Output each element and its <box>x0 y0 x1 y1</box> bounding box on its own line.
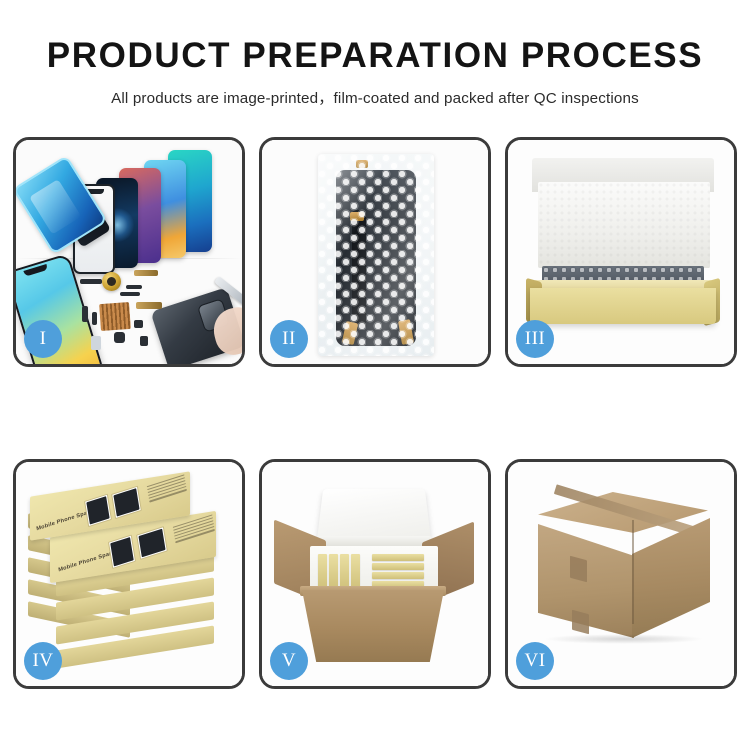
speaker-part-icon <box>114 332 125 343</box>
box-spec-lines <box>147 474 187 504</box>
carton-body-icon <box>302 590 444 662</box>
carton-tab-icon <box>570 556 587 583</box>
step-badge-1: I <box>24 320 62 358</box>
step-badge-5: V <box>270 642 308 680</box>
step-badge-2: II <box>270 320 308 358</box>
step-panel-3[interactable]: III <box>505 137 737 367</box>
small-part-bar-icon <box>134 320 143 328</box>
flex-cable-icon <box>134 270 158 276</box>
small-part-bar-icon <box>92 312 97 325</box>
page-header: PRODUCT PREPARATION PROCESS All products… <box>0 0 750 108</box>
box-screen-thumbnail <box>108 535 136 569</box>
plastic-sheen-icon <box>318 154 434 356</box>
small-part-bar-icon <box>126 285 142 289</box>
box-spec-lines <box>173 514 215 544</box>
bubble-wrap-bag-icon <box>318 154 434 356</box>
small-part-bar-icon <box>80 279 102 284</box>
step-badge-3: III <box>516 320 554 358</box>
step-panel-4[interactable]: Mobile Phone Spare Parts Mobile Phone Sp… <box>13 459 245 689</box>
small-part-bar-icon <box>120 292 140 296</box>
page-title: PRODUCT PREPARATION PROCESS <box>0 38 750 75</box>
flex-cable-icon <box>136 302 162 309</box>
process-step-grid: I II III <box>0 137 750 689</box>
step-panel-2[interactable]: II <box>259 137 491 367</box>
step-badge-4: IV <box>24 642 62 680</box>
sim-tray-part-icon <box>91 336 101 350</box>
step-panel-6[interactable]: VI <box>505 459 737 689</box>
white-foam-sheet-icon <box>538 182 710 268</box>
carton-shadow <box>544 634 704 644</box>
step-panel-5[interactable]: V <box>259 459 491 689</box>
box-screen-thumbnail <box>111 486 142 519</box>
step-badge-6: VI <box>516 642 554 680</box>
box-screen-thumbnail <box>84 494 112 528</box>
camera-part-icon <box>140 336 148 346</box>
page-subtitle: All products are image-printed，film-coat… <box>0 86 750 108</box>
yellow-box-front-icon <box>530 288 716 324</box>
step-panel-1[interactable]: I <box>13 137 245 367</box>
box-screen-thumbnail <box>136 526 168 560</box>
gold-coil-part-icon <box>102 272 121 291</box>
small-part-bar-icon <box>82 306 88 322</box>
carton-tab-icon <box>572 610 589 635</box>
copper-chip-grid-icon <box>99 302 131 331</box>
carton-corner-seam-icon <box>632 520 634 624</box>
